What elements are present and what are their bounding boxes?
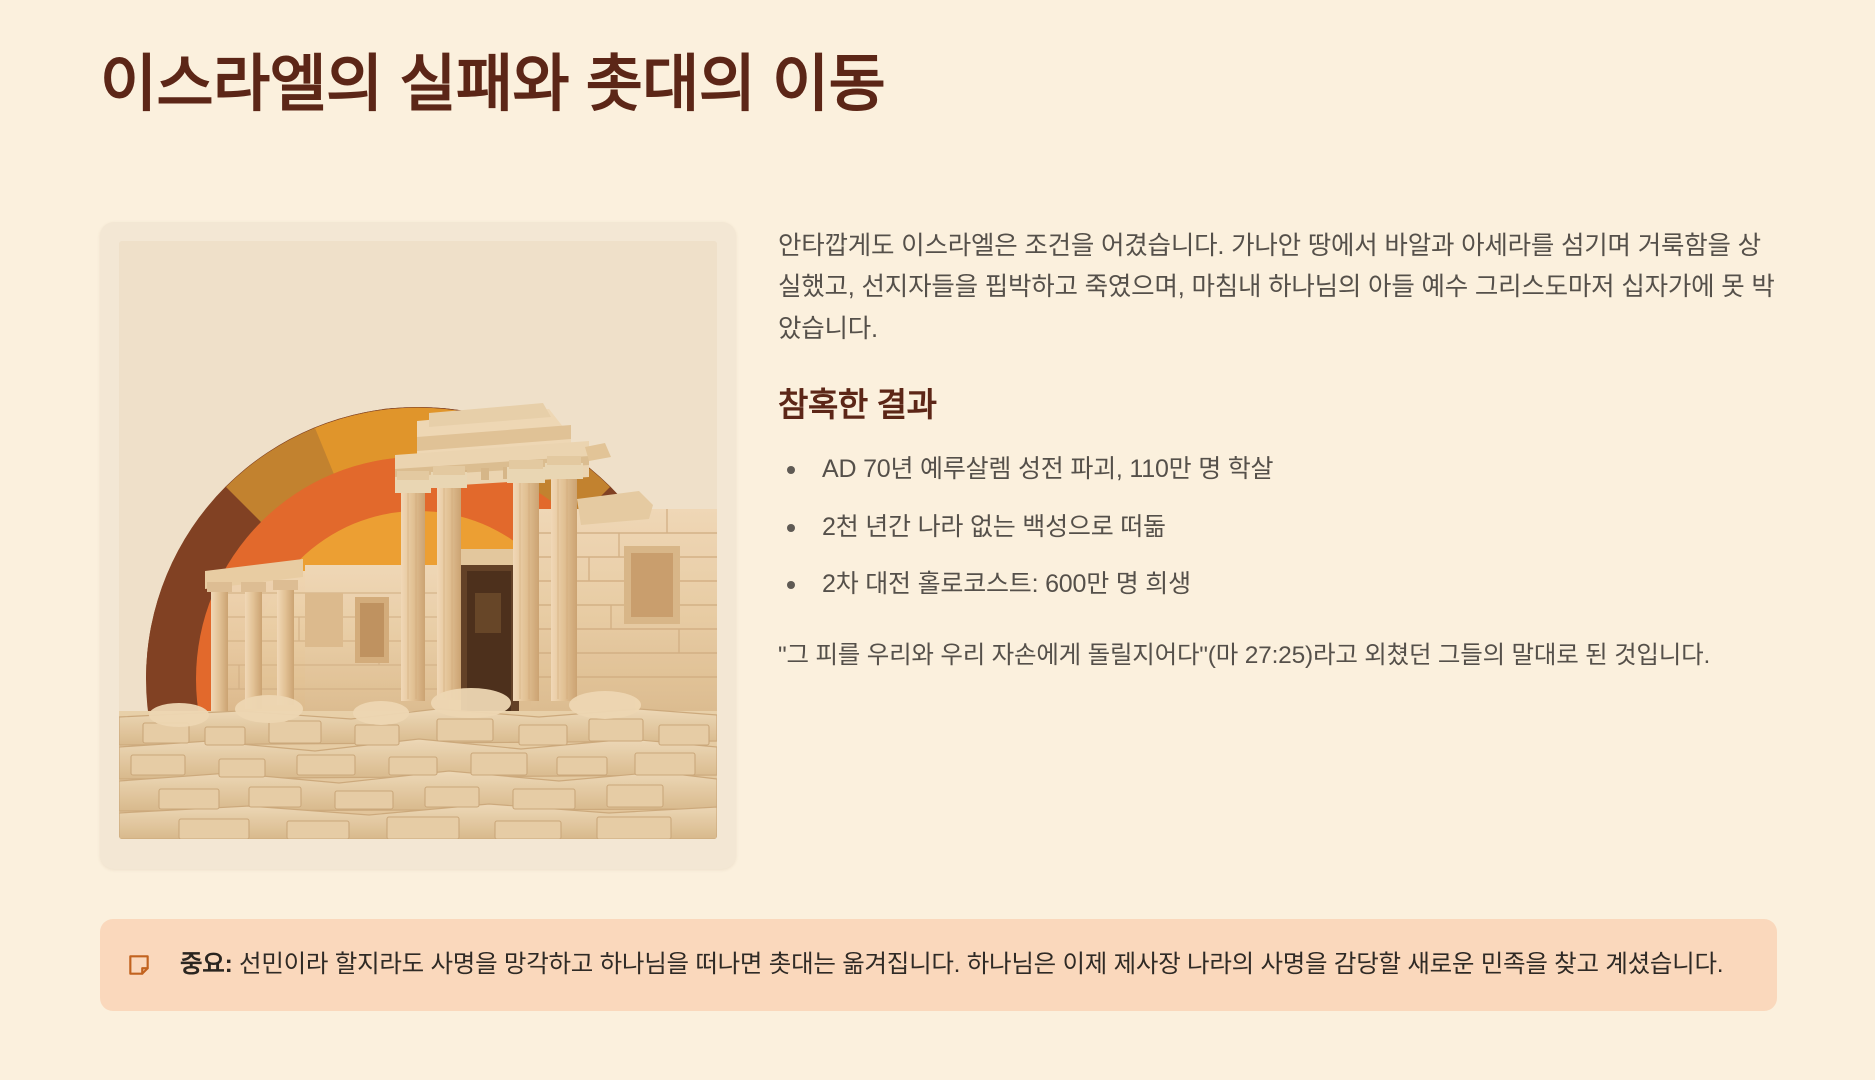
sticky-note-icon [126,952,152,978]
slide-root: 이스라엘의 실패와 촛대의 이동 [0,0,1875,1080]
list-item-label: 2천 년간 나라 없는 백성으로 떠돎 [822,513,1166,541]
list-item-label: AD 70년 예루살렘 성전 파괴, 110만 명 학살 [822,455,1273,483]
text-column: 안타깝게도 이스라엘은 조건을 어겼습니다. 가나안 땅에서 바알과 아세라를 … [778,222,1780,675]
consequences-list: AD 70년 예루살렘 성전 파괴, 110만 명 학살 2천 년간 나라 없는… [778,453,1780,602]
bullet-dot-icon [787,466,795,474]
lede-paragraph: 안타깝게도 이스라엘은 조건을 어겼습니다. 가나안 땅에서 바알과 아세라를 … [778,226,1780,350]
callout-text: 중요: 선민이라 할지라도 사명을 망각하고 하나님을 떠나면 촛대는 옮겨집니… [180,947,1723,983]
temple-ruins-illustration [119,241,717,839]
list-item: 2차 대전 홀로코스트: 600만 명 희생 [778,568,1780,602]
callout-body: 선민이라 할지라도 사명을 망각하고 하나님을 떠나면 촛대는 옮겨집니다. 하… [233,951,1724,978]
bullet-dot-icon [787,581,795,589]
section-heading: 참혹한 결과 [778,384,1780,427]
callout-label: 중요: [180,951,233,978]
image-card [100,222,736,869]
page-title: 이스라엘의 실패와 촛대의 이동 [100,48,885,121]
list-item: 2천 년간 나라 없는 백성으로 떠돎 [778,511,1780,545]
important-callout: 중요: 선민이라 할지라도 사명을 망각하고 하나님을 떠나면 촛대는 옮겨집니… [100,919,1777,1011]
list-item: AD 70년 예루살렘 성전 파괴, 110만 명 학살 [778,453,1780,487]
closing-line: "그 피를 우리와 우리 자손에게 돌릴지어다"(마 27:25)라고 외쳤던 … [778,638,1780,675]
list-item-label: 2차 대전 홀로코스트: 600만 명 희생 [822,570,1191,598]
content-row: 안타깝게도 이스라엘은 조건을 어겼습니다. 가나안 땅에서 바알과 아세라를 … [100,222,1780,869]
bullet-dot-icon [787,524,795,532]
